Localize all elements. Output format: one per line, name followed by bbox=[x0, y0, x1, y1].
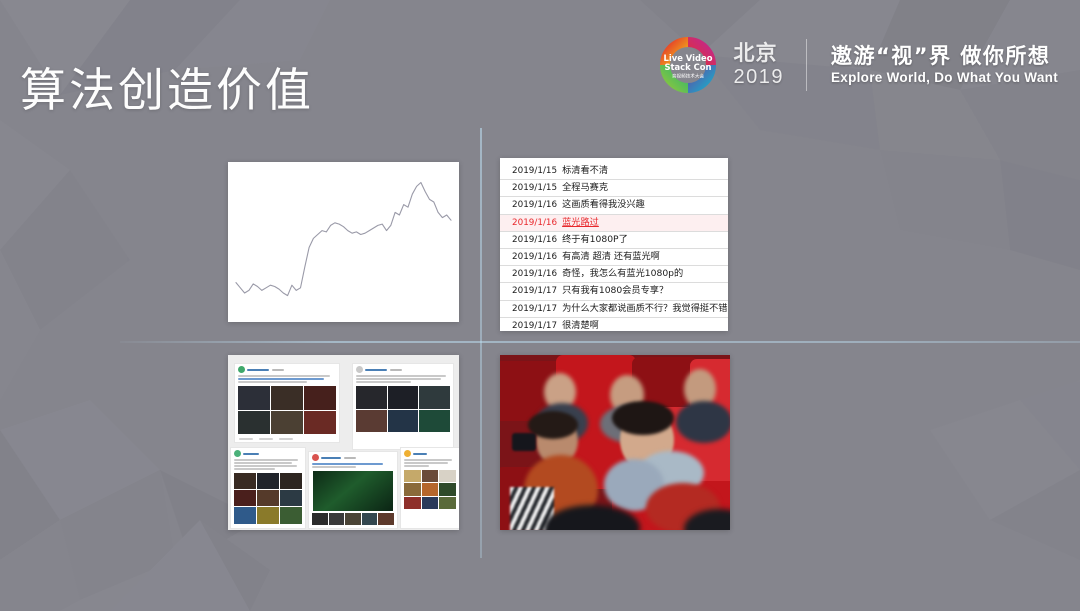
barrage-comment-list: 2019/1/15标清看不清2019/1/15全程马赛克2019/1/16这画质… bbox=[500, 158, 728, 331]
comment-text: 只有我有1080会员专享？ bbox=[562, 283, 668, 299]
username bbox=[321, 457, 341, 459]
comment-text: 标清看不清 bbox=[562, 163, 608, 179]
post-header bbox=[309, 452, 397, 462]
post-text bbox=[235, 374, 339, 386]
username bbox=[365, 369, 387, 371]
tagline-chinese: 遨游“视”界 做你所想 bbox=[831, 44, 1058, 68]
quadrant-vertical-divider bbox=[480, 128, 482, 558]
post-image-grid bbox=[235, 386, 339, 437]
comment-text: 很清楚啊 bbox=[562, 318, 599, 331]
post-image-grid bbox=[231, 473, 305, 527]
brand-divider bbox=[806, 39, 807, 91]
audience-scene bbox=[500, 355, 730, 530]
event-year: 2019 bbox=[733, 66, 784, 88]
post-text bbox=[231, 458, 305, 473]
ts-trend-line bbox=[228, 162, 459, 322]
comment-date: 2019/1/15 bbox=[512, 163, 557, 179]
livevideostackcon-ring-logo: Live Video Stack Con 音视频技术大会 bbox=[657, 34, 719, 96]
cinema-audience-photo bbox=[500, 355, 730, 530]
post-time bbox=[344, 457, 356, 459]
comment-row: 2019/1/16奇怪，我怎么有蓝光1080p的 bbox=[500, 266, 728, 283]
comment-row: 2019/1/17只有我有1080会员专享？ bbox=[500, 283, 728, 300]
username bbox=[413, 453, 427, 455]
username bbox=[243, 453, 259, 455]
weibo-post-card bbox=[230, 447, 306, 529]
comment-date: 2019/1/16 bbox=[512, 249, 557, 265]
comment-date: 2019/1/17 bbox=[512, 283, 557, 299]
event-city: 北京 bbox=[733, 42, 784, 66]
post-actions bbox=[235, 437, 339, 442]
comment-row: 2019/1/16蓝光路过 bbox=[500, 215, 728, 232]
comment-row: 2019/1/16有高清 超清 还有蓝光啊 bbox=[500, 249, 728, 266]
post-header bbox=[401, 448, 459, 458]
weibo-post-card bbox=[352, 363, 454, 450]
social-media-collage bbox=[228, 355, 459, 530]
weibo-post-card bbox=[400, 447, 459, 529]
comment-row: 2019/1/16这画质看得我没兴趣 bbox=[500, 197, 728, 214]
post-header bbox=[353, 364, 453, 374]
comment-row: 2019/1/15全程马赛克 bbox=[500, 180, 728, 197]
comment-text: 全程马赛克 bbox=[562, 180, 608, 196]
collage-canvas bbox=[228, 355, 459, 530]
comment-text: 终于有1080P了 bbox=[562, 232, 628, 248]
post-image-grid bbox=[401, 470, 459, 512]
comment-row: 2019/1/17为什么大家都说画质不行？我觉得挺不错 bbox=[500, 301, 728, 318]
username bbox=[247, 369, 269, 371]
post-time bbox=[390, 369, 402, 371]
comment-date: 2019/1/16 bbox=[512, 266, 557, 282]
post-text bbox=[353, 374, 453, 386]
comment-row: 2019/1/17很清楚啊 bbox=[500, 318, 728, 331]
brand-header: Live Video Stack Con 音视频技术大会 北京 2019 遨游“… bbox=[657, 34, 1058, 96]
post-header bbox=[231, 448, 305, 458]
comment-date: 2019/1/16 bbox=[512, 197, 557, 213]
comment-date: 2019/1/17 bbox=[512, 318, 557, 331]
avatar bbox=[312, 454, 319, 461]
avatar bbox=[238, 366, 245, 373]
svg-text:Stack Con: Stack Con bbox=[665, 62, 712, 72]
avatar bbox=[234, 450, 241, 457]
post-image-grid bbox=[353, 386, 453, 435]
page-title: 算法创造价值 bbox=[20, 54, 314, 120]
presentation-slide: 算法创造价值 bbox=[0, 0, 1080, 611]
svg-text:音视频技术大会: 音视频技术大会 bbox=[672, 73, 705, 80]
tagline-english: Explore World, Do What You Want bbox=[831, 69, 1058, 87]
weibo-post-card bbox=[234, 363, 340, 443]
comment-date: 2019/1/15 bbox=[512, 180, 557, 196]
comment-row: 2019/1/16终于有1080P了 bbox=[500, 232, 728, 249]
comment-date: 2019/1/16 bbox=[512, 232, 557, 248]
comment-text: 有高清 超清 还有蓝光啊 bbox=[562, 249, 660, 265]
comment-text: 蓝光路过 bbox=[562, 215, 599, 231]
ts-trend-chart-panel: TS bbox=[228, 162, 459, 322]
quadrant-horizontal-divider bbox=[120, 341, 1080, 343]
avatar bbox=[356, 366, 363, 373]
brand-tagline: 遨游“视”界 做你所想 Explore World, Do What You W… bbox=[831, 44, 1058, 87]
comment-text: 这画质看得我没兴趣 bbox=[562, 197, 645, 213]
comment-date: 2019/1/16 bbox=[512, 215, 557, 231]
post-time bbox=[272, 369, 284, 371]
post-text bbox=[401, 458, 459, 470]
comment-row: 2019/1/15标清看不清 bbox=[500, 163, 728, 180]
weibo-post-card bbox=[308, 451, 398, 529]
post-hero-image bbox=[313, 471, 393, 511]
comment-text: 奇怪，我怎么有蓝光1080p的 bbox=[562, 266, 683, 282]
comment-text: 为什么大家都说画质不行？我觉得挺不错 bbox=[562, 301, 727, 317]
event-city-year: 北京 2019 bbox=[733, 42, 790, 88]
avatar bbox=[404, 450, 411, 457]
post-text bbox=[309, 462, 397, 471]
comment-date: 2019/1/17 bbox=[512, 301, 557, 317]
post-header bbox=[235, 364, 339, 374]
post-thumb-strip bbox=[309, 513, 397, 528]
